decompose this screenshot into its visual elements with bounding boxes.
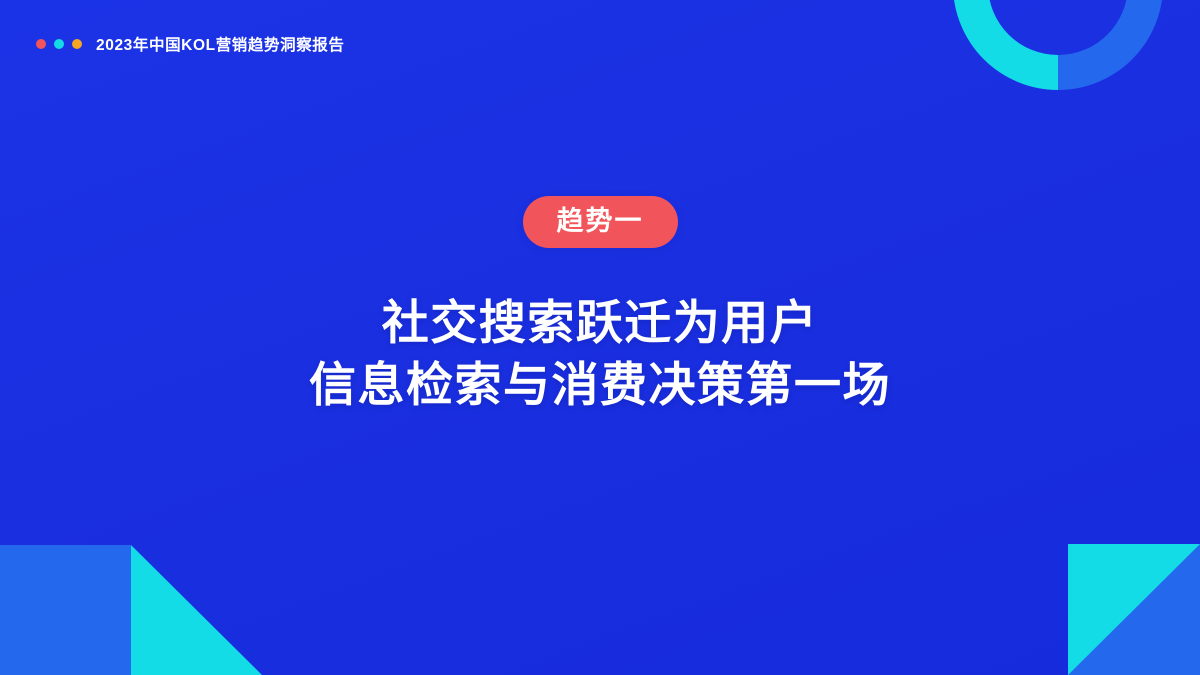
bottom-left-rectangle [0, 545, 131, 675]
trend-badge: 趋势一 [523, 196, 678, 248]
page-title-line-2: 信息检索与消费决策第一场 [309, 354, 891, 416]
page-title-line-1: 社交搜索跃迁为用户 [309, 292, 891, 354]
slide-content: 趋势一 社交搜索跃迁为用户 信息检索与消费决策第一场 [0, 0, 1200, 675]
presentation-slide: 2023年中国KOL营销趋势洞察报告 趋势一 社交搜索跃迁为用户 信息检索与消费… [0, 0, 1200, 675]
page-title: 社交搜索跃迁为用户 信息检索与消费决策第一场 [309, 292, 891, 416]
